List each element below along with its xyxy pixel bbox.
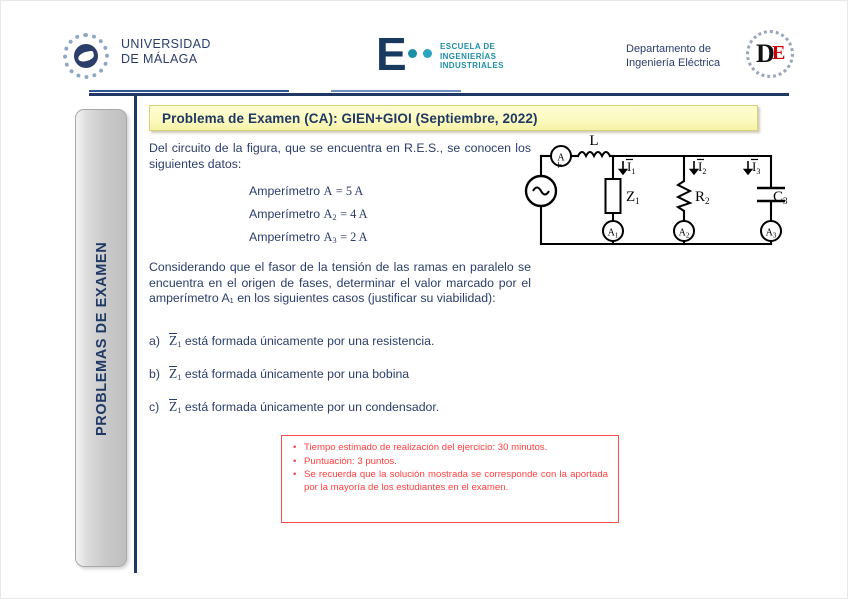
note-text-1: Tiempo estimado de realización del ejerc… [304, 442, 547, 453]
eii-wordmark: ESCUELA DE INGENIERÍAS INDUSTRIALES [440, 42, 504, 71]
item-text-a: está formada únicamente por una resisten… [185, 334, 435, 348]
note-list-item: • Se recuerda que la solución mostrada s… [290, 469, 608, 494]
item-symbol-c: Z [169, 399, 177, 414]
bullet-icon: • [293, 442, 296, 455]
eii-dot-icon-1 [408, 49, 417, 58]
given-label-2: Amperímetro [249, 207, 320, 221]
item-marker-b: b) [149, 366, 160, 382]
item-marker-c: c) [149, 399, 159, 415]
uma-seal-icon [63, 33, 109, 79]
header-rule [89, 93, 789, 96]
intro-paragraph: Del circuito de la figura, que se encuen… [149, 141, 531, 172]
header-rule-accent-mid [331, 90, 461, 92]
sidebar-tab-problemas-de-examen[interactable]: PROBLEMAS DE EXAMEN [75, 109, 127, 567]
given-value-1: = 5 A [336, 184, 363, 198]
note-text-2: Puntuación: 3 puntos. [304, 456, 397, 467]
branch3-label: C3 [773, 189, 788, 206]
page-title-banner: Problema de Examen (CA): GIEN+GIOI (Sept… [149, 105, 758, 131]
circuit-diagram: A + VG Z1 R2 C3 A1 A2 A3 L [521, 131, 791, 261]
source-polarity-label: + [555, 157, 562, 172]
given-value-3: = 2 A [340, 230, 367, 244]
departamento-wordmark: Departamento de Ingeniería Eléctrica [626, 42, 720, 70]
dpto-line-2: Ingeniería Eléctrica [626, 56, 720, 70]
branch2-label: R2 [695, 189, 710, 206]
bullet-icon: • [293, 469, 296, 482]
uma-line-1: UNIVERSIDAD [121, 37, 211, 52]
uma-wordmark: UNIVERSIDAD DE MÁLAGA [121, 37, 211, 67]
uma-line-2: DE MÁLAGA [121, 52, 211, 67]
departamento-seal-icon: D E [746, 30, 794, 78]
current-1-label: I1 [627, 159, 635, 176]
item-symbol-b: Z [169, 366, 177, 381]
current-3-label: I3 [752, 159, 760, 176]
note-text-3: Se recuerda que la solución mostrada se … [304, 469, 608, 493]
seal-letter-e: E [772, 45, 784, 62]
eii-e-mark: E [376, 38, 402, 74]
given-data-row-2: Amperímetro A2 = 4 A [249, 204, 368, 227]
item-symbol-sub-c: 1 [177, 405, 181, 415]
note-list-item: • Puntuación: 3 puntos. [290, 456, 608, 469]
given-value-2: = 4 A [340, 207, 367, 221]
header-rule-accent-left [89, 90, 289, 92]
given-data-list: Amperímetro A = 5 A Amperímetro A2 = 4 A… [249, 181, 368, 250]
item-symbol-sub-a: 1 [177, 339, 181, 349]
eii-line-2: INGENIERÍAS [440, 52, 504, 62]
dpto-line-1: Departamento de [626, 42, 720, 56]
eii-line-1: ESCUELA DE [440, 42, 504, 52]
question-list: a) Z1 está formada únicamente por una re… [149, 333, 539, 432]
item-text-c: está formada únicamente por un condensad… [185, 400, 439, 414]
bullet-icon: • [293, 456, 296, 469]
given-label-3: Amperímetro [249, 230, 320, 244]
note-list-item: • Tiempo estimado de realización del eje… [290, 442, 608, 455]
statement-paragraph: Considerando que el fasor de la tensión … [149, 260, 531, 307]
sidebar-tab-label: PROBLEMAS DE EXAMEN [76, 110, 128, 568]
eii-dot-icon-2 [423, 49, 432, 58]
given-data-row-1: Amperímetro A = 5 A [249, 181, 368, 204]
content-divider [134, 96, 137, 573]
inductor-label: L [589, 133, 598, 149]
eii-line-3: INDUSTRIALES [440, 61, 504, 71]
page-title: Problema de Examen (CA): GIEN+GIOI (Sept… [150, 111, 538, 126]
branch1-label: Z1 [626, 189, 640, 206]
given-sub-2: 2 [332, 212, 336, 222]
list-item: c) Z1 está formada únicamente por un con… [149, 399, 539, 418]
item-text-b: está formada únicamente por una bobina [185, 367, 409, 381]
slide-canvas: UNIVERSIDAD DE MÁLAGA E ESCUELA DE INGEN… [0, 0, 848, 599]
item-symbol-sub-b: 1 [177, 372, 181, 382]
slide-header: UNIVERSIDAD DE MÁLAGA E ESCUELA DE INGEN… [1, 1, 848, 96]
given-symbol-1: A [324, 184, 333, 198]
current-2-label: I2 [698, 159, 706, 176]
given-data-row-3: Amperímetro A3 = 2 A [249, 227, 368, 250]
list-item: a) Z1 está formada únicamente por una re… [149, 333, 539, 352]
given-label-1: Amperímetro [249, 184, 320, 198]
list-item: b) Z1 está formada únicamente por una bo… [149, 366, 539, 385]
given-sub-3: 3 [332, 235, 336, 245]
item-marker-a: a) [149, 333, 160, 349]
exam-note-box: • Tiempo estimado de realización del eje… [281, 435, 619, 523]
item-symbol-a: Z [169, 333, 177, 348]
